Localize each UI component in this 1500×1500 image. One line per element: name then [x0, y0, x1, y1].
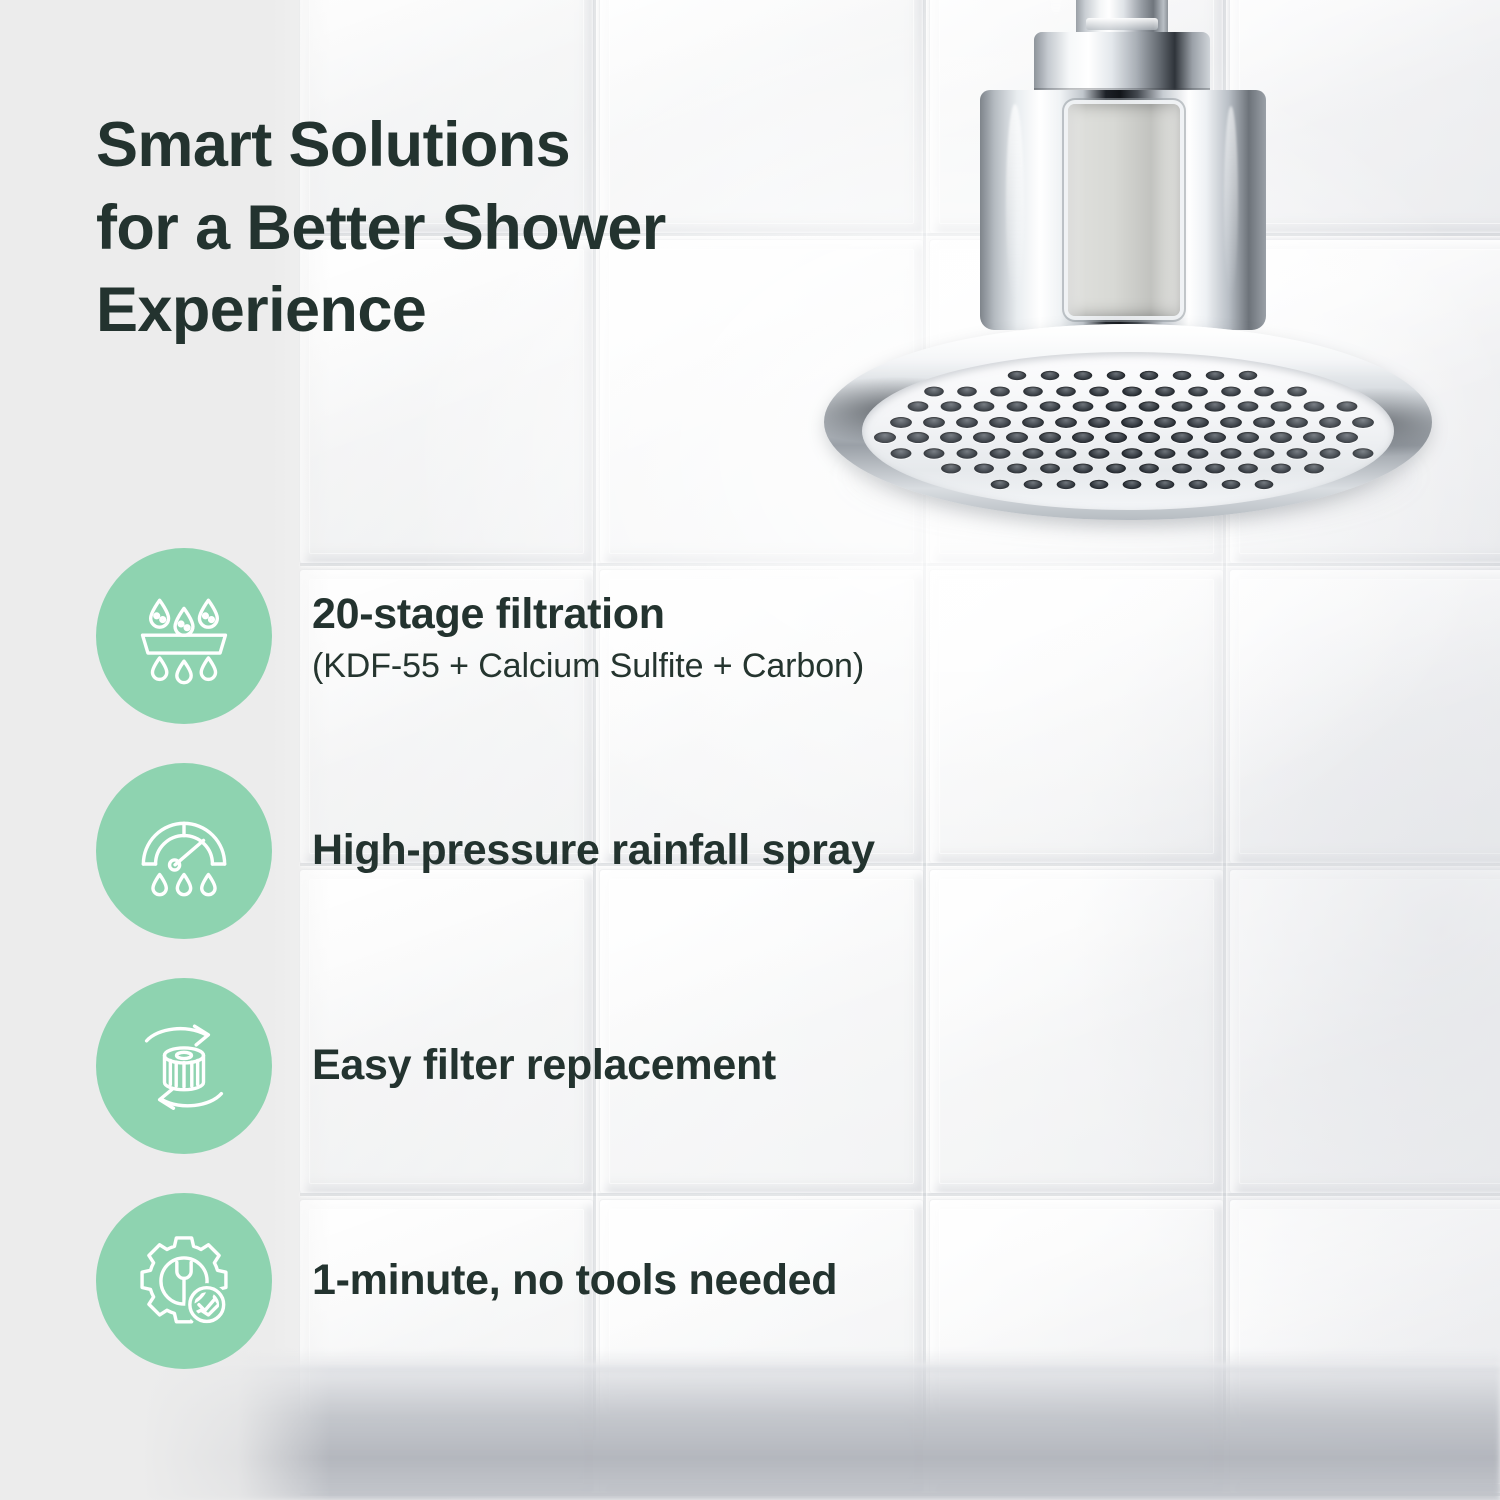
spray-nozzle: [1138, 432, 1160, 443]
spray-nozzle: [956, 417, 978, 428]
feature-icon-badge: [96, 978, 272, 1154]
spray-nozzle: [1138, 401, 1159, 411]
spray-nozzle: [1154, 417, 1176, 428]
spray-nozzle: [940, 401, 961, 411]
spray-nozzle: [1271, 464, 1291, 474]
spray-nozzle: [1122, 386, 1142, 396]
spray-nozzle: [1089, 386, 1109, 396]
spray-nozzle: [1287, 448, 1308, 458]
window-glass-gloss: [1068, 104, 1180, 316]
spray-nozzle: [1221, 386, 1241, 396]
spray-nozzle: [1057, 479, 1076, 488]
spray-nozzle: [1007, 464, 1027, 474]
spray-nozzle: [1122, 448, 1143, 458]
feature-text: 20-stage filtration (KDF-55 + Calcium Su…: [312, 590, 1072, 686]
spray-nozzle: [1023, 386, 1043, 396]
spray-nozzle: [940, 432, 962, 443]
spray-nozzle: [1105, 432, 1127, 443]
chrome-sparkle: [1006, 104, 1024, 304]
spray-nozzle: [1255, 479, 1274, 488]
feature-text: High-pressure rainfall spray: [312, 826, 1072, 874]
spray-nozzle: [1238, 371, 1256, 380]
feature-row-replacement: Easy filter replacement: [0, 978, 1100, 1193]
chrome-sparkle: [1224, 106, 1238, 296]
spray-nozzle: [1006, 432, 1028, 443]
spray-nozzle: [1139, 464, 1159, 474]
spray-nozzle: [991, 479, 1010, 488]
spray-nozzle: [1089, 448, 1110, 458]
spray-nozzle: [1121, 417, 1143, 428]
spray-nozzle: [973, 432, 995, 443]
spray-nozzle: [1156, 479, 1175, 488]
spray-nozzle: [1172, 371, 1190, 380]
spray-nozzle: [1254, 448, 1275, 458]
spray-nozzle: [1204, 432, 1226, 443]
water-filtration-icon: [132, 584, 236, 688]
spray-nozzle: [974, 464, 994, 474]
spray-nozzle: [1073, 464, 1093, 474]
spray-nozzle: [1319, 417, 1341, 428]
spray-nozzle: [990, 386, 1010, 396]
spray-nozzle: [1039, 432, 1061, 443]
spray-nozzle: [1106, 464, 1126, 474]
chrome-sparkle: [1050, 0, 1062, 26]
spray-nozzle: [1336, 432, 1358, 443]
spray-nozzle: [957, 448, 978, 458]
spray-nozzle: [1055, 417, 1077, 428]
spray-nozzle: [973, 401, 994, 411]
feature-icon-badge: [96, 548, 272, 724]
spray-nozzle: [1222, 479, 1241, 488]
spray-nozzle: [1320, 448, 1341, 458]
spray-nozzle: [1172, 464, 1192, 474]
spray-nozzle: [1353, 448, 1374, 458]
spray-nozzle: [1220, 417, 1242, 428]
spray-nozzle: [1237, 401, 1258, 411]
spray-nozzle: [1171, 401, 1192, 411]
spray-nozzle: [957, 386, 977, 396]
chrome-collar: [1034, 32, 1210, 98]
spray-face-plate: [862, 352, 1394, 510]
spray-nozzle: [924, 386, 944, 396]
spray-nozzle: [1304, 464, 1324, 474]
spray-nozzle: [1023, 448, 1044, 458]
spray-nozzle: [1286, 417, 1308, 428]
pressure-gauge-icon: [132, 799, 236, 903]
feature-row-no-tools: 1-minute, no tools needed: [0, 1193, 1100, 1408]
spray-nozzle: [1072, 401, 1093, 411]
spray-nozzle: [1205, 464, 1225, 474]
feature-row-pressure: High-pressure rainfall spray: [0, 763, 1100, 978]
spray-nozzle: [1056, 448, 1077, 458]
feature-row-filtration: 20-stage filtration (KDF-55 + Calcium Su…: [0, 548, 1100, 763]
infographic-canvas: Smart Solutions for a Better Shower Expe…: [0, 0, 1500, 1500]
spray-nozzle: [1187, 417, 1209, 428]
feature-title: Easy filter replacement: [312, 1041, 1072, 1089]
feature-subtitle: (KDF-55 + Calcium Sulfite + Carbon): [312, 647, 1072, 686]
pipe-highlight-band: [1086, 18, 1158, 30]
feature-text: Easy filter replacement: [312, 1041, 1072, 1089]
spray-nozzle: [1123, 479, 1142, 488]
spray-nozzle: [1270, 401, 1291, 411]
spray-nozzle: [989, 417, 1011, 428]
spray-nozzle: [1073, 371, 1091, 380]
spray-nozzle: [874, 432, 896, 443]
spray-nozzle: [1006, 401, 1027, 411]
spray-nozzle: [1303, 432, 1325, 443]
feature-icon-badge: [96, 763, 272, 939]
spray-nozzle: [1188, 386, 1208, 396]
spray-nozzle: [1237, 432, 1259, 443]
spray-nozzle: [923, 417, 945, 428]
page-title: Smart Solutions for a Better Shower Expe…: [96, 104, 926, 352]
spray-nozzle: [1270, 432, 1292, 443]
spray-nozzle: [941, 464, 961, 474]
spray-nozzle: [1287, 386, 1307, 396]
filter-cartridge-replace-icon: [132, 1014, 236, 1118]
spray-nozzle: [1090, 479, 1109, 488]
spray-nozzle: [1352, 417, 1374, 428]
spray-nozzle: [1039, 401, 1060, 411]
spray-nozzle: [1238, 464, 1258, 474]
spray-nozzle: [1022, 417, 1044, 428]
spray-nozzle: [1204, 401, 1225, 411]
spray-nozzle: [891, 448, 912, 458]
spray-nozzle: [1155, 448, 1176, 458]
feature-title: High-pressure rainfall spray: [312, 826, 1072, 874]
spray-nozzle: [1253, 417, 1275, 428]
spray-nozzle: [890, 417, 912, 428]
spray-nozzle: [1254, 386, 1274, 396]
spray-nozzle: [924, 448, 945, 458]
spray-nozzle: [1155, 386, 1175, 396]
spray-nozzle: [1221, 448, 1242, 458]
spray-nozzle: [1205, 371, 1223, 380]
spray-nozzle: [1007, 371, 1025, 380]
spray-nozzle: [1024, 479, 1043, 488]
feature-icon-badge: [96, 1193, 272, 1369]
spray-nozzle: [1188, 448, 1209, 458]
spray-nozzle: [1303, 401, 1324, 411]
spray-nozzle: [1171, 432, 1193, 443]
spray-nozzle: [1040, 464, 1060, 474]
spray-nozzle: [1056, 386, 1076, 396]
feature-title: 20-stage filtration: [312, 590, 1072, 638]
spray-nozzle: [1189, 479, 1208, 488]
spray-nozzle: [1106, 371, 1124, 380]
gear-wrench-check-icon: [132, 1229, 236, 1333]
spray-nozzle: [907, 432, 929, 443]
filter-media-window: [1068, 104, 1180, 316]
spray-nozzle: [907, 401, 928, 411]
spray-nozzle: [1072, 432, 1094, 443]
feature-title: 1-minute, no tools needed: [312, 1256, 1072, 1304]
spray-nozzle: [1336, 401, 1357, 411]
spray-nozzle: [1088, 417, 1110, 428]
spray-nozzle: [1105, 401, 1126, 411]
spray-nozzle: [990, 448, 1011, 458]
feature-list: 20-stage filtration (KDF-55 + Calcium Su…: [0, 548, 1100, 1408]
feature-text: 1-minute, no tools needed: [312, 1256, 1072, 1304]
spray-nozzle: [1139, 371, 1157, 380]
spray-nozzle: [1040, 371, 1058, 380]
